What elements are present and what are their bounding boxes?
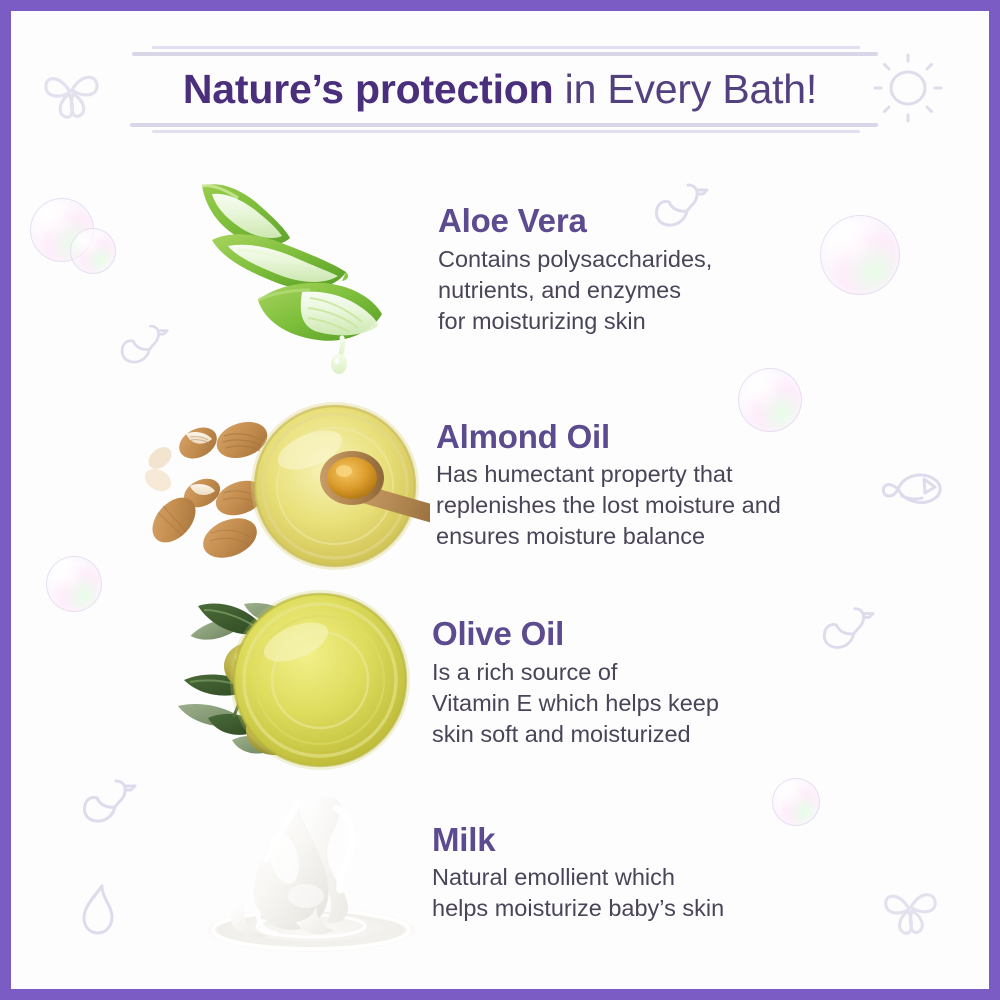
header-top-rule xyxy=(0,46,1000,58)
ingredient-row-milk: Milk Natural emollient which helps moist… xyxy=(198,788,940,958)
aloe-vera-slices-image xyxy=(150,168,430,378)
ingredient-title: Olive Oil xyxy=(432,616,940,653)
page-title: Nature’s protection in Every Bath! xyxy=(0,66,1000,113)
header: Nature’s protection in Every Bath! xyxy=(0,46,1000,135)
ingredient-text-almond-oil: Almond Oil Has humectant property that r… xyxy=(430,419,940,553)
ingredient-row-aloe-vera: Aloe Vera Contains polysaccharides, nutr… xyxy=(150,168,940,378)
ingredient-title: Almond Oil xyxy=(436,419,940,456)
ingredient-description: Has humectant property that replenishes … xyxy=(436,459,940,552)
ingredient-text-aloe-vera: Aloe Vera Contains polysaccharides, nutr… xyxy=(430,203,940,343)
ingredient-row-almond-oil: Almond Oil Has humectant property that r… xyxy=(130,398,940,573)
milk-splash-image xyxy=(198,788,424,958)
infographic-canvas: Nature’s protection in Every Bath! xyxy=(0,0,1000,1000)
ingredient-text-milk: Milk Natural emollient which helps moist… xyxy=(424,822,940,925)
ingredient-text-olive-oil: Olive Oil Is a rich source of Vitamin E … xyxy=(418,616,940,750)
ingredient-description: Natural emollient which helps moisturize… xyxy=(432,862,940,924)
page-title-bold: Nature’s protection xyxy=(183,66,554,112)
ingredient-title: Milk xyxy=(432,822,940,859)
ingredient-description: Contains polysaccharides, nutrients, and… xyxy=(438,244,940,337)
ingredient-row-olive-oil: Olive Oil Is a rich source of Vitamin E … xyxy=(168,588,940,778)
page-title-light: in Every Bath! xyxy=(553,66,817,112)
header-bottom-rule xyxy=(0,123,1000,135)
ingredient-title: Aloe Vera xyxy=(438,203,940,240)
olive-oil-bowl-image xyxy=(168,588,418,778)
almond-oil-bowl-image xyxy=(130,398,430,573)
ingredient-description: Is a rich source of Vitamin E which help… xyxy=(432,657,940,750)
